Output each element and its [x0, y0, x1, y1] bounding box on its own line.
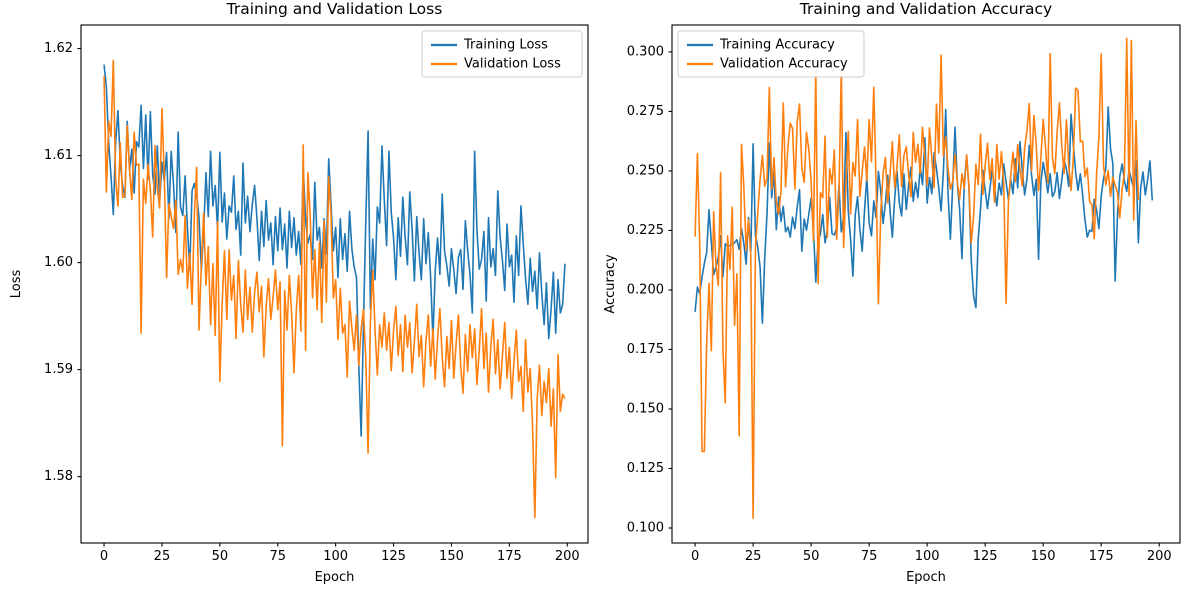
x-tick-label: 50 — [803, 549, 820, 564]
y-tick-label: 0.125 — [627, 461, 664, 476]
x-tick-label: 75 — [861, 549, 878, 564]
y-axis-label: Accuracy — [603, 254, 618, 314]
series-line-validation — [695, 39, 1138, 519]
y-tick-label: 0.200 — [627, 282, 664, 297]
x-tick-label: 50 — [212, 549, 229, 564]
x-tick-label: 150 — [439, 549, 464, 564]
loss-chart-canvas: Training and Validation Loss1.581.591.60… — [0, 0, 600, 600]
y-tick-label: 0.275 — [627, 104, 664, 119]
x-tick-label: 175 — [497, 549, 522, 564]
x-tick-label: 25 — [154, 549, 171, 564]
y-tick-label: 1.60 — [44, 255, 73, 270]
x-tick-label: 0 — [100, 549, 108, 564]
axes-frame — [672, 25, 1180, 543]
x-axis-label: Epoch — [315, 570, 355, 585]
series-line-training — [104, 65, 565, 436]
y-tick-label: 0.150 — [627, 401, 664, 416]
x-tick-label: 125 — [381, 549, 406, 564]
x-tick-label: 200 — [555, 549, 580, 564]
x-tick-label: 100 — [915, 549, 940, 564]
y-tick-label: 0.100 — [627, 521, 664, 536]
x-tick-label: 125 — [973, 549, 998, 564]
matplotlib-figure: Training and Validation Loss1.581.591.60… — [0, 0, 1200, 600]
series-line-validation — [104, 60, 565, 517]
x-axis-label: Epoch — [906, 570, 946, 585]
x-tick-label: 100 — [323, 549, 348, 564]
y-tick-label: 1.61 — [44, 148, 73, 163]
x-tick-label: 25 — [745, 549, 762, 564]
x-tick-label: 200 — [1147, 549, 1172, 564]
chart-title: Training and Validation Loss — [226, 0, 443, 18]
accuracy-chart-canvas: Training and Validation Accuracy0.1000.1… — [600, 0, 1200, 600]
y-tick-label: 0.250 — [627, 163, 664, 178]
legend-label-validation: Validation Accuracy — [720, 57, 848, 72]
chart-title: Training and Validation Accuracy — [799, 0, 1052, 18]
y-tick-label: 0.175 — [627, 342, 664, 357]
legend-label-training: Training Loss — [463, 38, 548, 53]
x-tick-label: 175 — [1089, 549, 1114, 564]
subplot-loss: Training and Validation Loss1.581.591.60… — [0, 0, 600, 600]
y-tick-label: 0.225 — [627, 223, 664, 238]
legend-label-validation: Validation Loss — [464, 57, 561, 72]
x-tick-label: 150 — [1031, 549, 1056, 564]
y-tick-label: 1.59 — [44, 362, 73, 377]
x-tick-label: 75 — [269, 549, 286, 564]
y-tick-label: 0.300 — [627, 44, 664, 59]
y-tick-label: 1.62 — [44, 41, 73, 56]
legend-label-training: Training Accuracy — [719, 38, 835, 53]
y-tick-label: 1.58 — [44, 469, 73, 484]
y-axis-label: Loss — [9, 270, 24, 299]
x-tick-label: 0 — [691, 549, 699, 564]
subplot-accuracy: Training and Validation Accuracy0.1000.1… — [600, 0, 1200, 600]
